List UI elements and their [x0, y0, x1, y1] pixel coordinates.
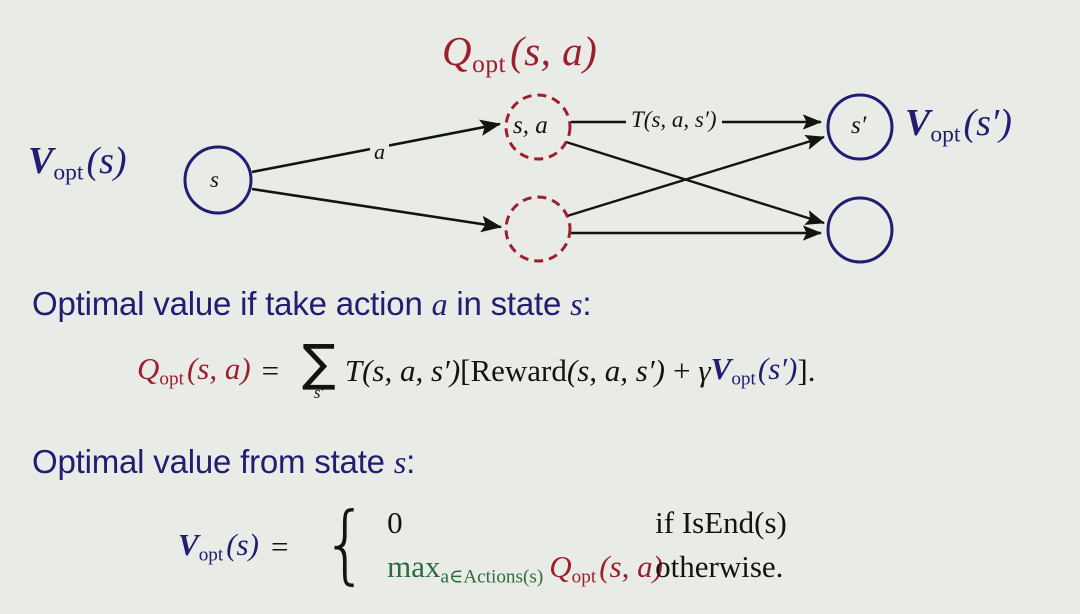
- heading-1-middle: in state: [447, 285, 570, 322]
- heading-2-var-s: s: [394, 444, 406, 480]
- node-action-other[interactable]: [506, 197, 570, 261]
- eq-v-case-2-max-subscript: a∈Actions(s): [441, 566, 544, 587]
- eq-q-gamma: γ: [698, 353, 710, 389]
- heading-1-prefix: Optimal value if take action: [32, 285, 432, 322]
- eq-v-case-2-q-symbol: Q: [549, 549, 571, 584]
- eq-v-case-row: 0 if IsEnd(s): [387, 505, 787, 541]
- eq-v-case-2-value: maxa∈Actions(s)Qopt(s, a): [387, 549, 655, 588]
- eq-v-case-2-q-subscript: opt: [572, 566, 597, 587]
- eq-v-case-2-q-args: (s, a): [599, 549, 663, 584]
- edge-s-to-action-lower: [252, 189, 501, 227]
- heading-optimal-value-state: Optimal value from state s:: [32, 443, 415, 481]
- node-next-state-s-prime[interactable]: [828, 95, 892, 159]
- heading-1-var-a: a: [432, 286, 448, 322]
- eq-q-lhs: Qopt(s, a): [137, 351, 251, 390]
- eq-q-value-symbol: V: [711, 351, 732, 386]
- eq-v-case-1-condition: if IsEnd(s): [655, 505, 787, 541]
- eq-v-cases: 0 if IsEnd(s) maxa∈Actions(s)Qopt(s, a) …: [387, 505, 787, 588]
- node-next-state-other[interactable]: [828, 198, 892, 262]
- eq-q-bracket-close: ]: [797, 353, 807, 389]
- node-action-s-a[interactable]: [506, 95, 570, 159]
- vopt-left-args: (s): [86, 140, 126, 182]
- eq-v-case-2-max: max: [387, 549, 440, 584]
- vopt-left-subscript: opt: [53, 160, 83, 186]
- vopt-right-subscript: opt: [930, 122, 960, 148]
- eq-q-value-subscript: opt: [731, 368, 756, 389]
- eq-q-lhs-subscript: opt: [159, 368, 184, 389]
- diagram-qopt-title: Qopt(s, a): [442, 27, 597, 79]
- eq-v-lhs-subscript: opt: [199, 544, 224, 565]
- qopt-title-args: (s, a): [510, 28, 597, 74]
- eq-q-summation: ∑ s′: [302, 344, 336, 401]
- eq-v-lhs: Vopt(s): [178, 527, 259, 566]
- eq-q-value-args: (s′): [758, 351, 798, 386]
- vopt-right-args: (s′): [963, 102, 1011, 144]
- eq-q-sum-subscript: s′: [314, 384, 324, 401]
- equation-qopt: Qopt(s, a) = ∑ s′ T(s, a, s′) [ Reward(s…: [137, 342, 815, 399]
- equation-vopt: Vopt(s) = { 0 if IsEnd(s) maxa∈Actions(s…: [178, 505, 787, 588]
- eq-q-lhs-args: (s, a): [187, 351, 251, 386]
- eq-q-reward-args: (s, a, s′): [567, 353, 665, 389]
- vopt-left-symbol: V: [28, 140, 53, 182]
- slide-canvas: s s, a s′ Qopt(s, a) Vopt(s) Vopt(s′) a …: [0, 0, 1080, 614]
- eq-v-case-1-value: 0: [387, 505, 655, 541]
- diagram-vopt-left: Vopt(s): [28, 139, 127, 187]
- eq-q-equals: =: [262, 353, 279, 389]
- eq-q-lhs-symbol: Q: [137, 351, 159, 386]
- eq-v-case-1-condition-text: IsEnd(s): [682, 505, 787, 540]
- eq-v-brace: {: [323, 508, 370, 582]
- edge-label-transition: T(s, a, s′): [626, 107, 722, 133]
- heading-optimal-value-action: Optimal value if take action a in state …: [32, 285, 591, 323]
- eq-v-lhs-args: (s): [226, 527, 259, 562]
- eq-q-period: .: [808, 353, 816, 389]
- heading-1-var-s: s: [570, 286, 582, 322]
- eq-q-sum-glyph: ∑: [302, 344, 336, 383]
- eq-v-case-1-condition-prefix: if: [655, 505, 682, 540]
- node-state-s[interactable]: [185, 147, 251, 213]
- heading-2-prefix: Optimal value from state: [32, 443, 394, 480]
- qopt-title-subscript: opt: [472, 50, 506, 78]
- eq-v-equals: =: [271, 529, 288, 565]
- vopt-right-symbol: V: [905, 102, 930, 144]
- qopt-title-symbol: Q: [442, 28, 472, 74]
- diagram-vopt-right: Vopt(s′): [905, 101, 1012, 149]
- heading-2-suffix: :: [406, 443, 415, 480]
- eq-q-plus: +: [673, 353, 690, 389]
- edge-action-lower-to-state-upper: [567, 137, 824, 216]
- eq-q-transition: T(s, a, s′): [345, 353, 460, 389]
- eq-v-case-2-q: Qopt(s, a): [549, 549, 663, 584]
- heading-1-suffix: :: [582, 285, 591, 322]
- mdp-diagram: s s, a s′ Qopt(s, a) Vopt(s) Vopt(s′) a …: [0, 0, 1080, 282]
- eq-v-case-2-condition: otherwise.: [655, 549, 783, 585]
- eq-v-lhs-symbol: V: [178, 527, 199, 562]
- edge-label-action: a: [370, 139, 389, 165]
- eq-q-reward: Reward: [470, 353, 566, 389]
- eq-q-value: Vopt(s′): [711, 351, 798, 390]
- eq-q-bracket-open: [: [460, 353, 470, 389]
- eq-v-case-row: maxa∈Actions(s)Qopt(s, a) otherwise.: [387, 549, 787, 588]
- edge-action-upper-to-state-lower: [566, 142, 824, 223]
